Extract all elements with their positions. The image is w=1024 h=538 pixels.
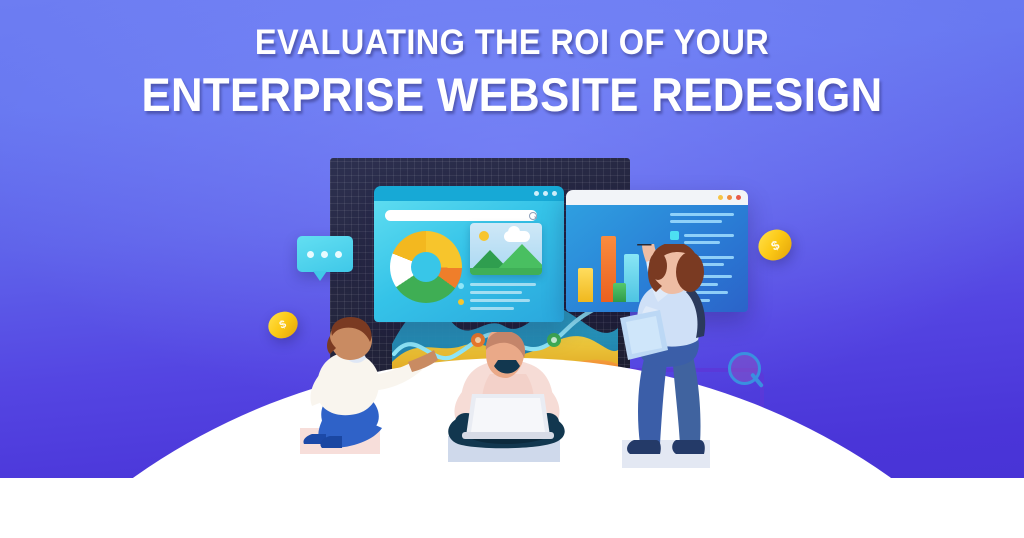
window-dot-minimize[interactable] <box>718 195 723 200</box>
coin-icon-left: $ <box>264 307 302 343</box>
window-dot <box>543 191 548 196</box>
text-line <box>470 291 522 294</box>
window-dot <box>552 191 557 196</box>
headline-line-1: EVALUATING THE ROI OF YOUR <box>36 22 988 64</box>
text-line <box>470 283 536 286</box>
text-line <box>684 234 734 237</box>
window-dot <box>534 191 539 196</box>
coin-icon-right: $ <box>753 224 797 266</box>
sun-icon <box>479 231 489 241</box>
bullet-dot <box>458 299 464 305</box>
bullet-dot <box>458 283 464 289</box>
cloud-icon <box>504 231 530 242</box>
roi-banner: $ $ <box>0 0 1024 538</box>
chat-dot <box>307 251 314 258</box>
text-line <box>470 299 530 302</box>
chat-bubble-icon <box>297 236 353 272</box>
bottom-fill <box>0 478 1024 538</box>
text-line <box>470 307 514 310</box>
text-line <box>670 213 734 216</box>
browser-titlebar-right <box>566 190 748 205</box>
analytics-browser-body <box>374 201 564 322</box>
kneeling-man <box>300 316 420 456</box>
donut-chart <box>390 231 462 303</box>
browser-titlebar-left <box>374 186 564 201</box>
standing-woman-presenter <box>616 244 732 474</box>
image-thumbnail <box>470 223 542 275</box>
search-icon <box>529 212 537 220</box>
ground-shape <box>470 268 542 275</box>
bar <box>578 268 593 302</box>
window-dot-close[interactable] <box>736 195 741 200</box>
chat-dot <box>335 251 342 258</box>
window-dot-maximize[interactable] <box>727 195 732 200</box>
bullet-square-cyan <box>670 231 679 240</box>
chat-dot <box>321 251 328 258</box>
text-line <box>670 220 722 223</box>
search-input[interactable] <box>385 210 537 221</box>
seated-man-with-laptop <box>434 332 568 464</box>
headline-line-2: ENTERPRISE WEBSITE REDESIGN <box>36 67 988 123</box>
banner-headline: EVALUATING THE ROI OF YOUR ENTERPRISE WE… <box>0 22 1024 123</box>
analytics-browser-window[interactable] <box>374 186 564 322</box>
